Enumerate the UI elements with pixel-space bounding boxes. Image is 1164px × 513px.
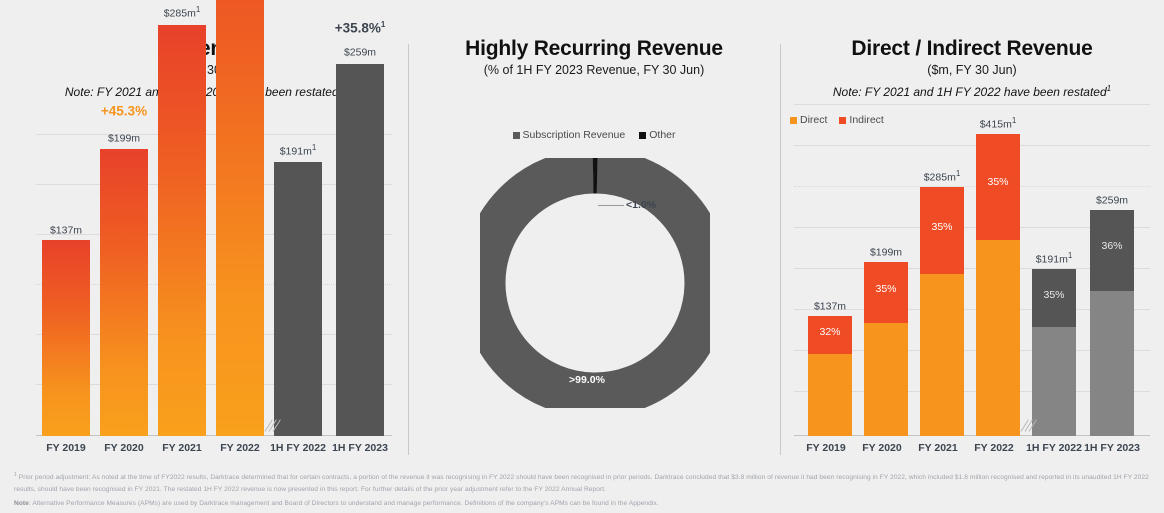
footnote-2-text: : Alternative Performance Measures (APMs… — [29, 500, 659, 507]
bar-value-label: $259m — [306, 44, 414, 59]
bar-group-fy2019[interactable]: $137m 32% — [808, 104, 852, 436]
bar-group-1hfy2023[interactable]: $259m 36% — [1090, 104, 1134, 436]
segment-indirect[interactable]: 32% — [808, 316, 852, 354]
bar-fy2021[interactable]: 35% — [920, 187, 964, 436]
bar-1hfy2022[interactable] — [274, 162, 322, 436]
donut-chart[interactable] — [480, 158, 710, 408]
directindirect-plot: $137m 32% $199m 35% — [794, 104, 1150, 436]
segment-direct[interactable] — [1032, 327, 1076, 436]
segment-indirect[interactable]: 35% — [976, 134, 1020, 240]
footnote-2: Note: Alternative Performance Measures (… — [14, 498, 1154, 510]
bar-1hfy2023[interactable] — [336, 64, 384, 436]
directindirect-note: Note: FY 2021 and 1H FY 2022 have been r… — [780, 80, 1164, 101]
legend-swatch-icon — [513, 132, 520, 139]
revenue-bars: $137m +45.3% $199m +43.2%1 $285m1 +4 — [36, 134, 392, 436]
bar-group-fy2020[interactable]: $199m 35% — [864, 104, 908, 436]
segment-pct-label: 32% — [808, 326, 852, 338]
slide-root: Revenue ($m, FY 30 Jun) Note: FY 2021 an… — [0, 0, 1164, 513]
bar-group-fy2021[interactable]: $285m1 35% — [920, 104, 964, 436]
footnotes: 1 Prior period adjustment: As noted at t… — [14, 470, 1154, 510]
segment-pct-label: 35% — [976, 176, 1020, 188]
bar-total-label: $259m — [1060, 192, 1164, 207]
bar-group-1hfy2022[interactable]: $191m1 — [274, 134, 322, 436]
revenue-plot: $137m +45.3% $199m +43.2%1 $285m1 +4 — [36, 134, 392, 436]
segment-direct[interactable] — [808, 354, 852, 436]
bar-fy2019[interactable]: 32% — [808, 316, 852, 436]
legend-item-other[interactable]: Other — [639, 129, 675, 141]
recurring-titles: Highly Recurring Revenue (% of 1H FY 202… — [408, 36, 780, 79]
axis-break-mark — [1020, 420, 1036, 434]
bar-fy2022[interactable] — [216, 0, 264, 436]
panel-direct-indirect-revenue: Direct / Indirect Revenue ($m, FY 30 Jun… — [780, 0, 1164, 465]
bar-fy2020[interactable] — [100, 149, 148, 436]
directindirect-note-sup: 1 — [1107, 84, 1111, 93]
directindirect-title: Direct / Indirect Revenue — [780, 36, 1164, 61]
segment-pct-label: 36% — [1090, 240, 1134, 252]
bar-group-1hfy2022[interactable]: $191m1 35% — [1032, 104, 1076, 436]
segment-direct[interactable] — [920, 274, 964, 436]
bar-fy2021[interactable] — [158, 25, 206, 436]
donut-label-other: <1.0% — [626, 199, 656, 211]
legend-item-subscription-revenue[interactable]: Subscription Revenue — [513, 129, 626, 141]
bar-1hfy2023[interactable]: 36% — [1090, 210, 1134, 436]
footnote-1-text: Prior period adjustment: As noted at the… — [14, 474, 1149, 493]
bar-group-fy2022[interactable]: $415m1 35% — [976, 104, 1020, 436]
bar-growth-label: +35.8%1 — [296, 20, 424, 36]
bar-fy2022[interactable]: 35% — [976, 134, 1020, 436]
footnote-note-label: Note — [14, 500, 29, 507]
legend-label: Subscription Revenue — [523, 129, 626, 141]
segment-pct-label: 35% — [920, 221, 964, 233]
bar-group-1hfy2023[interactable]: +35.8%1 $259m — [336, 134, 384, 436]
x-label-1hfy2023: 1H FY 2023 — [314, 442, 406, 454]
directindirect-note-text: Note: FY 2021 and 1H FY 2022 have been r… — [833, 85, 1107, 99]
segment-indirect[interactable]: 35% — [864, 262, 908, 323]
segment-pct-label: 35% — [864, 283, 908, 295]
panel-revenue: Revenue ($m, FY 30 Jun) Note: FY 2021 an… — [0, 0, 408, 465]
bar-group-fy2021[interactable]: +43.2%1 $285m1 — [158, 134, 206, 436]
recurring-donut-wrap: <1.0% >99.0% — [480, 158, 710, 408]
recurring-subtitle: (% of 1H FY 2023 Revenue, FY 30 Jun) — [408, 62, 780, 79]
bar-group-fy2022[interactable]: +45.7%1 $415m1 — [216, 134, 264, 436]
segment-indirect[interactable]: 35% — [1032, 269, 1076, 327]
footnote-1: 1 Prior period adjustment: As noted at t… — [14, 470, 1154, 495]
bar-fy2019[interactable] — [42, 240, 90, 436]
donut-slice-subscription-revenue — [481, 169, 709, 397]
segment-direct[interactable] — [976, 240, 1020, 436]
legend-label: Other — [649, 129, 675, 141]
bar-group-fy2020[interactable]: +45.3% $199m — [100, 134, 148, 436]
x-label-1hfy2023: 1H FY 2023 — [1066, 442, 1158, 454]
recurring-title: Highly Recurring Revenue — [408, 36, 780, 61]
directindirect-bars: $137m 32% $199m 35% — [794, 104, 1150, 436]
donut-label-subscription-revenue: >99.0% — [569, 374, 605, 386]
bar-group-fy2019[interactable]: $137m — [42, 134, 90, 436]
directindirect-subtitle: ($m, FY 30 Jun) — [780, 62, 1164, 79]
legend-swatch-icon — [639, 132, 646, 139]
segment-indirect[interactable]: 35% — [920, 187, 964, 274]
directindirect-titles: Direct / Indirect Revenue ($m, FY 30 Jun… — [780, 36, 1164, 101]
bar-fy2020[interactable]: 35% — [864, 262, 908, 436]
segment-direct[interactable] — [1090, 291, 1134, 436]
segment-indirect[interactable]: 36% — [1090, 210, 1134, 291]
recurring-legend: Subscription Revenue Other — [408, 129, 780, 141]
segment-direct[interactable] — [864, 323, 908, 436]
axis-break-mark — [264, 420, 280, 434]
bar-1hfy2022[interactable]: 35% — [1032, 269, 1076, 436]
segment-pct-label: 35% — [1032, 289, 1076, 301]
donut-leader-line — [598, 205, 624, 206]
